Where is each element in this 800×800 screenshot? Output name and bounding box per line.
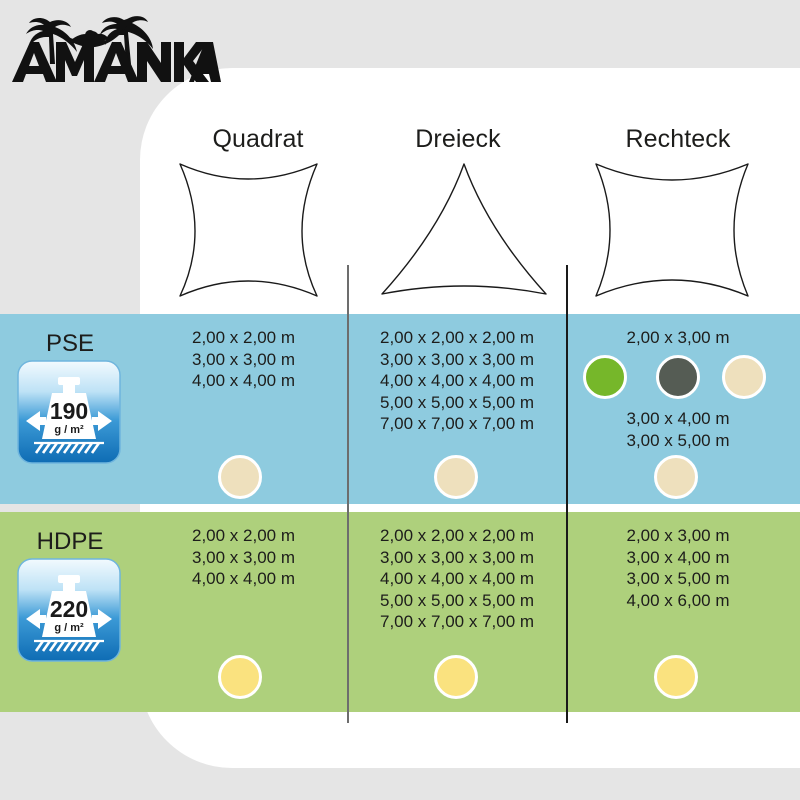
size-line: 2,00 x 2,00 m <box>192 525 295 547</box>
size-line: 2,00 x 3,00 m <box>578 525 778 547</box>
size-line: 3,00 x 5,00 m <box>578 568 778 590</box>
color-swatch-hdpe-dreieck[interactable] <box>434 655 478 699</box>
size-line: 3,00 x 4,00 m <box>578 547 778 569</box>
size-list-hdpe-dreieck: 2,00 x 2,00 x 2,00 m3,00 x 3,00 x 3,00 m… <box>380 525 534 633</box>
size-line: 2,00 x 2,00 x 2,00 m <box>380 327 534 349</box>
column-header-rechteck: Rechteck <box>578 125 778 154</box>
color-swatch-green[interactable] <box>583 355 627 399</box>
size-line: 5,00 x 5,00 x 5,00 m <box>380 392 534 414</box>
size-list-pse-rechteck-top: 2,00 x 3,00 m <box>578 327 778 349</box>
size-line: 4,00 x 6,00 m <box>578 590 778 612</box>
size-list-hdpe-quadrat: 2,00 x 2,00 m3,00 x 3,00 m4,00 x 4,00 m <box>192 525 295 590</box>
badge-value-pse: 190 <box>50 398 88 424</box>
size-list-hdpe-rechteck: 2,00 x 3,00 m3,00 x 4,00 m3,00 x 5,00 m4… <box>578 525 778 611</box>
size-line: 4,00 x 4,00 m <box>192 568 295 590</box>
size-line: 3,00 x 3,00 x 3,00 m <box>380 547 534 569</box>
size-line: 2,00 x 2,00 m <box>192 327 295 349</box>
material-label-pse: PSE <box>0 330 140 358</box>
color-swatch-hdpe-quadrat[interactable] <box>218 655 262 699</box>
weight-density-badge-hdpe: 220 g / m² <box>16 557 122 663</box>
badge-value-hdpe: 220 <box>50 596 88 622</box>
size-line: 2,00 x 2,00 x 2,00 m <box>380 525 534 547</box>
square-sail-shape <box>176 160 321 300</box>
size-line: 7,00 x 7,00 x 7,00 m <box>380 611 534 633</box>
size-list-pse-quadrat: 2,00 x 2,00 m3,00 x 3,00 m4,00 x 4,00 m <box>192 327 295 392</box>
rectangle-sail-shape <box>592 160 752 300</box>
color-swatch-cream[interactable] <box>722 355 766 399</box>
material-label-hdpe: HDPE <box>0 528 140 556</box>
sail-shape-illustrations <box>0 160 800 315</box>
size-line: 3,00 x 3,00 m <box>192 349 295 371</box>
size-line: 3,00 x 3,00 x 3,00 m <box>380 349 534 371</box>
size-list-pse-dreieck: 2,00 x 2,00 x 2,00 m3,00 x 3,00 x 3,00 m… <box>380 327 534 435</box>
column-divider-1 <box>347 265 349 723</box>
size-line: 2,00 x 3,00 m <box>578 327 778 349</box>
weight-density-badge-pse: 190 g / m² <box>16 359 122 465</box>
badge-unit-pse: g / m² <box>54 424 84 436</box>
size-line: 3,00 x 3,00 m <box>192 547 295 569</box>
size-line: 3,00 x 4,00 m <box>578 408 778 430</box>
badge-unit-hdpe: g / m² <box>54 622 84 634</box>
color-swatch-pse-dreieck[interactable] <box>434 455 478 499</box>
color-swatch-pse-quadrat[interactable] <box>218 455 262 499</box>
size-line: 4,00 x 4,00 m <box>192 370 295 392</box>
amanka-logo <box>6 8 221 84</box>
triangle-sail-shape <box>378 160 550 300</box>
color-swatch-pse-rechteck[interactable] <box>654 455 698 499</box>
column-divider-2 <box>566 265 568 723</box>
size-list-pse-rechteck-bottom: 3,00 x 4,00 m3,00 x 5,00 m <box>578 408 778 451</box>
color-swatch-grey[interactable] <box>656 355 700 399</box>
size-line: 4,00 x 4,00 x 4,00 m <box>380 568 534 590</box>
column-header-dreieck: Dreieck <box>360 125 556 154</box>
size-line: 3,00 x 5,00 m <box>578 430 778 452</box>
size-line: 4,00 x 4,00 x 4,00 m <box>380 370 534 392</box>
size-line: 5,00 x 5,00 x 5,00 m <box>380 590 534 612</box>
size-line: 7,00 x 7,00 x 7,00 m <box>380 413 534 435</box>
column-headers: Quadrat Dreieck Rechteck <box>0 125 800 161</box>
column-header-quadrat: Quadrat <box>180 125 336 154</box>
color-swatch-hdpe-rechteck[interactable] <box>654 655 698 699</box>
